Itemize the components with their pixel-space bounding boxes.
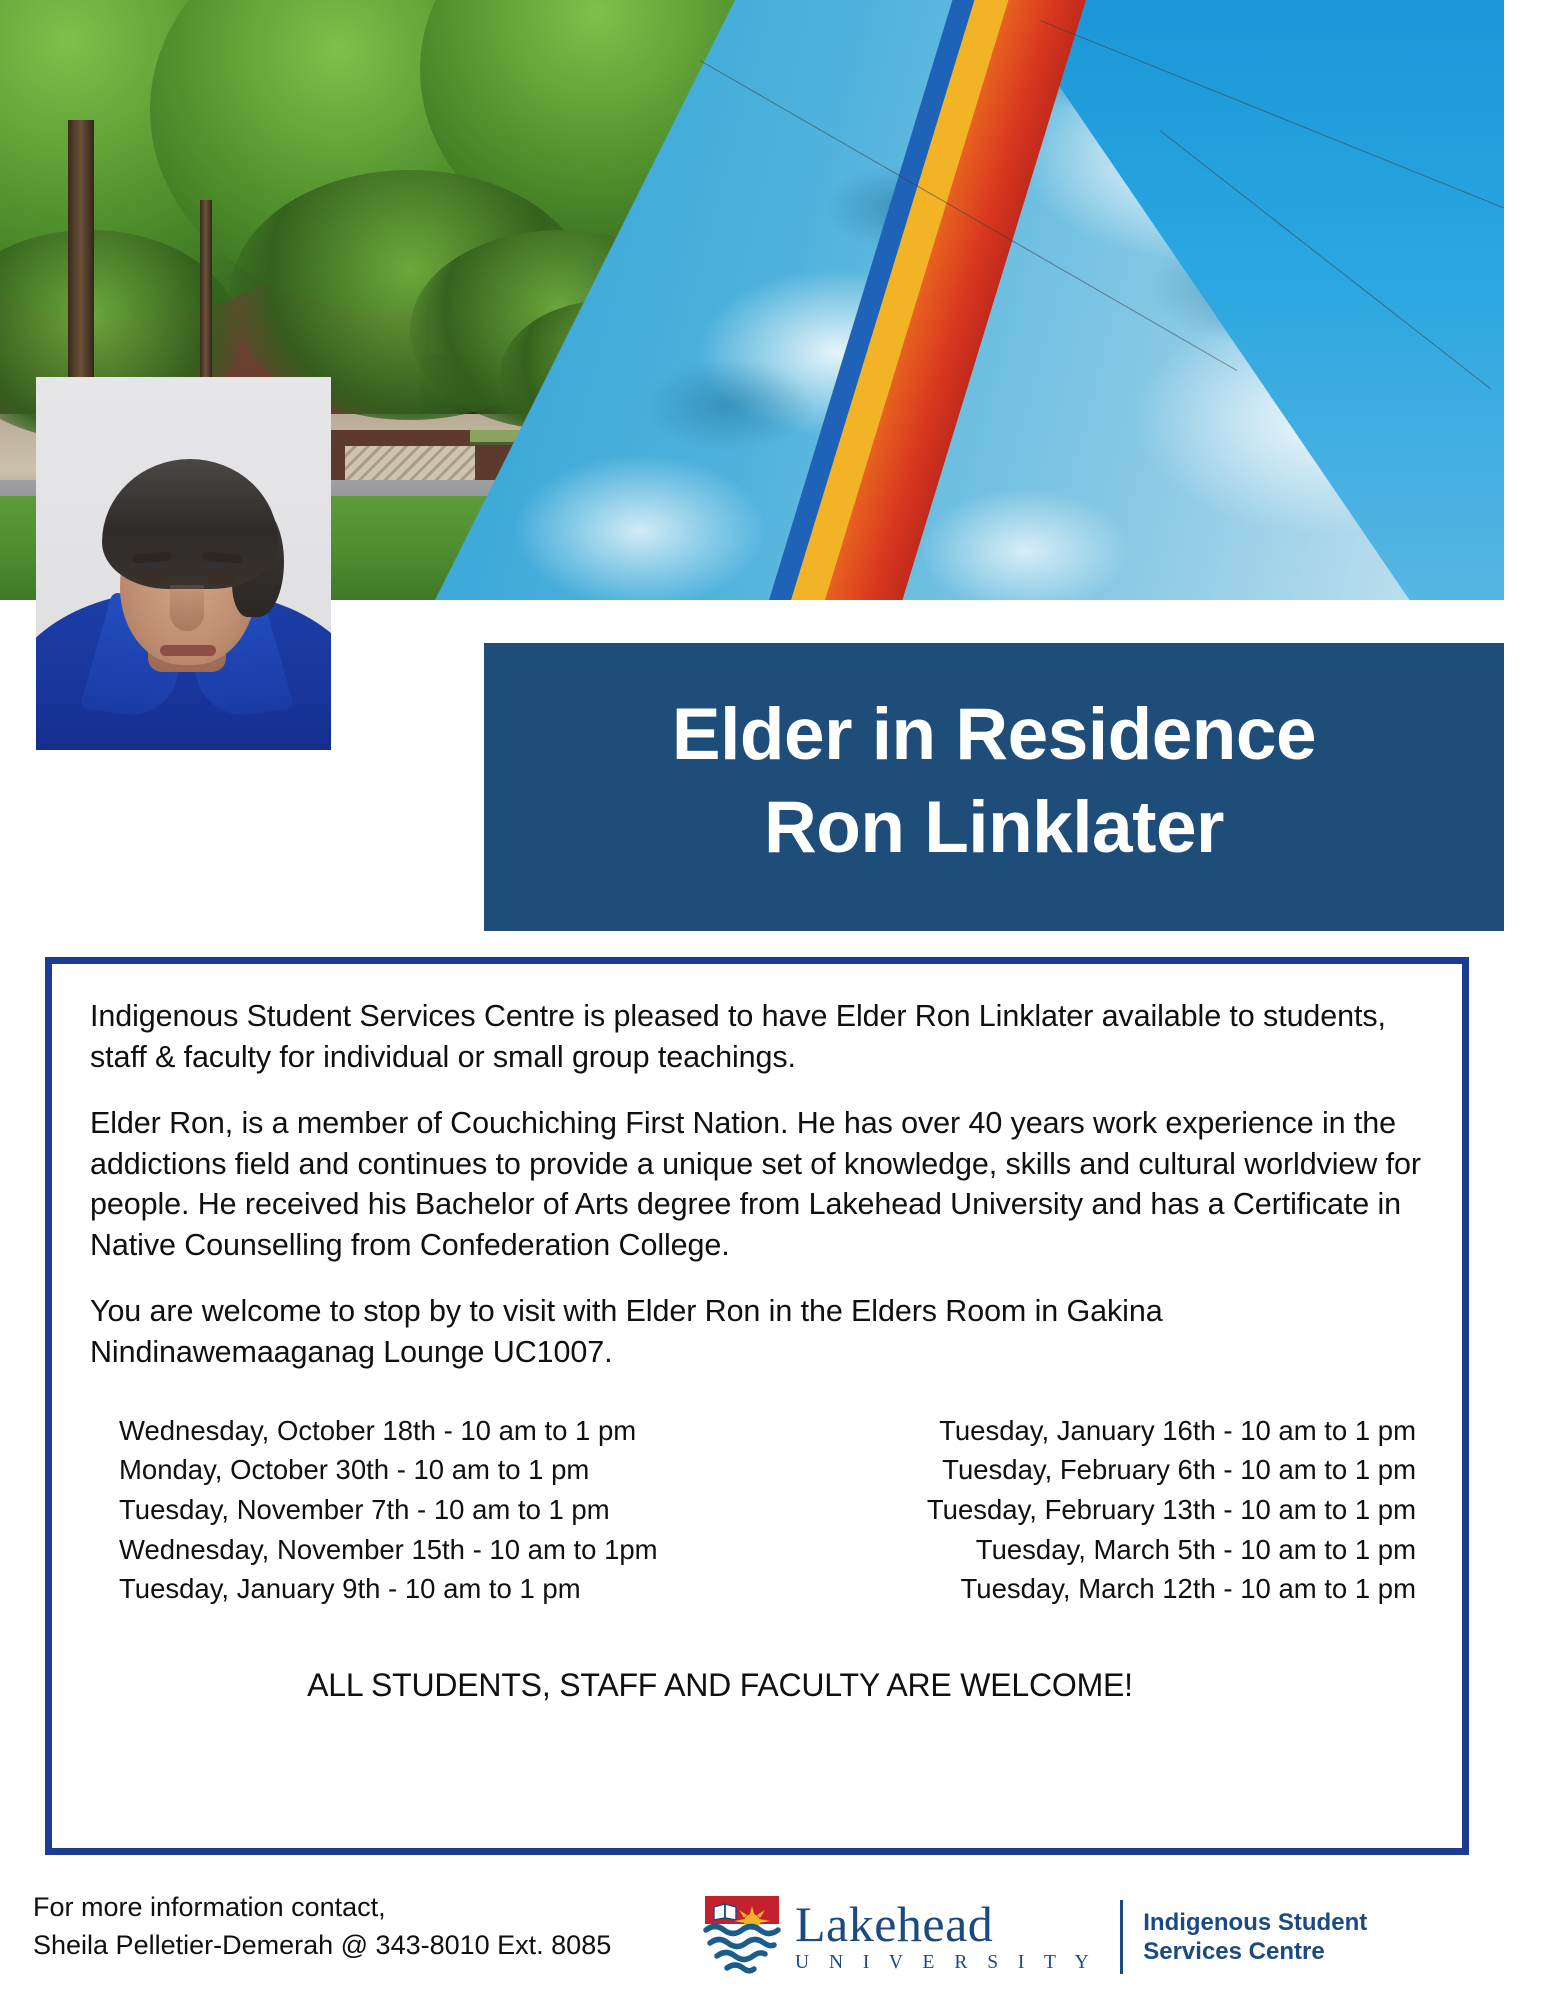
content-card: Indigenous Student Services Centre is pl… [45, 957, 1469, 1855]
shield-icon [703, 1894, 781, 1980]
footer: For more information contact, Sheila Pel… [0, 1870, 1545, 2000]
schedule-column-left: Wednesday, October 18th - 10 am to 1 pm … [90, 1411, 768, 1610]
schedule-row: Tuesday, March 12th - 10 am to 1 pm [768, 1569, 1417, 1609]
schedule-row: Wednesday, October 18th - 10 am to 1 pm [119, 1411, 768, 1451]
logo-unit-line-2: Services Centre [1143, 1937, 1367, 1966]
page-title-line-2: Ron Linklater [764, 781, 1224, 874]
logo-subtitle: U N I V E R S I T Y [795, 1952, 1096, 1974]
contact-line-1: For more information contact, [33, 1888, 611, 1926]
biography-paragraph: Elder Ron, is a member of Couchiching Fi… [90, 1103, 1424, 1265]
schedule-column-right: Tuesday, January 16th - 10 am to 1 pm Tu… [768, 1411, 1425, 1610]
location-paragraph: You are welcome to stop by to visit with… [90, 1291, 1424, 1372]
logo-unit-name: Indigenous Student Services Centre [1143, 1908, 1367, 1967]
portrait-nose [170, 585, 204, 631]
schedule-row: Monday, October 30th - 10 am to 1 pm [119, 1450, 768, 1490]
schedule-row: Wednesday, November 15th - 10 am to 1pm [119, 1530, 768, 1570]
intro-paragraph: Indigenous Student Services Centre is pl… [90, 996, 1424, 1077]
schedule-row: Tuesday, February 13th - 10 am to 1 pm [768, 1490, 1417, 1530]
portrait-eye-left [137, 571, 167, 584]
logo-divider [1120, 1900, 1123, 1974]
portrait-eye-right [206, 571, 236, 584]
lakehead-logo: Lakehead U N I V E R S I T Y Indigenous … [703, 1892, 1367, 1982]
portrait-mouth [160, 645, 216, 656]
schedule-row: Tuesday, February 6th - 10 am to 1 pm [768, 1450, 1417, 1490]
schedule-table: Wednesday, October 18th - 10 am to 1 pm … [90, 1411, 1424, 1610]
page-title-line-1: Elder in Residence [672, 688, 1316, 781]
title-banner: Elder in Residence Ron Linklater [484, 643, 1504, 931]
logo-unit-line-1: Indigenous Student [1143, 1908, 1367, 1937]
welcome-note: ALL STUDENTS, STAFF AND FACULTY ARE WELC… [90, 1667, 1424, 1704]
elder-portrait [36, 377, 331, 750]
contact-line-2: Sheila Pelletier-Demerah @ 343-8010 Ext.… [33, 1926, 611, 1964]
logo-wordmark: Lakehead U N I V E R S I T Y [795, 1900, 1096, 1974]
schedule-row: Tuesday, March 5th - 10 am to 1 pm [768, 1530, 1417, 1570]
schedule-row: Tuesday, January 9th - 10 am to 1 pm [119, 1569, 768, 1609]
schedule-row: Tuesday, January 16th - 10 am to 1 pm [768, 1411, 1417, 1451]
logo-name: Lakehead [795, 1900, 1096, 1949]
schedule-row: Tuesday, November 7th - 10 am to 1 pm [119, 1490, 768, 1530]
contact-block: For more information contact, Sheila Pel… [33, 1888, 611, 1965]
teepee [420, 0, 1504, 600]
